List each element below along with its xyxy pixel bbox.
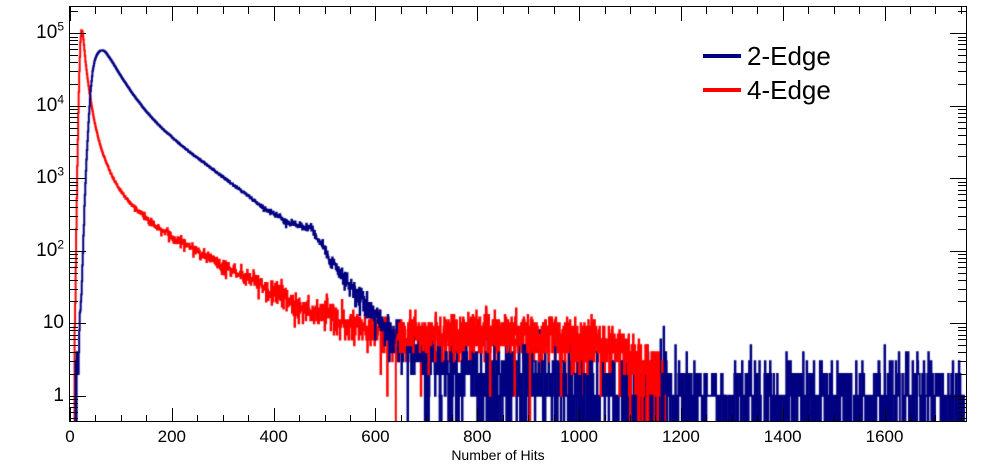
x-tick-minor	[452, 7, 453, 14]
x-tick-major	[274, 7, 275, 21]
y-tick-minor	[958, 185, 966, 186]
y-tick-minor	[70, 182, 78, 183]
y-tick-minor	[958, 200, 966, 201]
y-tick-minor	[958, 327, 966, 328]
x-tick-minor	[706, 7, 707, 14]
y-tick-minor	[958, 11, 966, 12]
x-tick-minor	[503, 7, 504, 14]
x-tick-minor	[605, 415, 606, 422]
y-tick-minor	[958, 216, 966, 217]
y-tick-minor	[70, 109, 78, 110]
y-tick-minor	[958, 113, 966, 114]
x-tick-minor	[757, 7, 758, 14]
x-tick-major	[477, 408, 478, 422]
x-tick-minor	[961, 415, 962, 422]
y-tick-minor	[70, 361, 78, 362]
y-tick-minor	[70, 412, 78, 413]
x-tick-major	[274, 408, 275, 422]
y-tick-minor	[958, 339, 966, 340]
y-tick-minor	[70, 11, 78, 12]
y-tick-minor	[958, 190, 966, 191]
x-tick-major	[70, 408, 71, 422]
y-axis-tick-label: 10	[6, 313, 64, 332]
x-tick-minor	[605, 7, 606, 14]
y-tick-minor	[70, 185, 78, 186]
x-tick-minor	[299, 7, 300, 14]
x-tick-minor	[732, 415, 733, 422]
y-tick-minor	[70, 339, 78, 340]
y-tick-minor	[958, 399, 966, 400]
y-axis-tick-label: 103	[6, 168, 64, 187]
y-tick-major	[950, 323, 966, 324]
x-tick-minor	[808, 415, 809, 422]
y-tick-minor	[70, 374, 78, 375]
y-tick-minor	[958, 71, 966, 72]
x-axis-tick-label: 1200	[641, 428, 721, 445]
y-tick-minor	[70, 128, 78, 129]
x-tick-minor	[223, 415, 224, 422]
y-tick-minor	[70, 113, 78, 114]
x-tick-major	[375, 408, 376, 422]
y-tick-minor	[70, 200, 78, 201]
x-tick-minor	[834, 415, 835, 422]
x-tick-minor	[834, 7, 835, 14]
x-tick-minor	[350, 7, 351, 14]
y-tick-minor	[958, 55, 966, 56]
x-tick-minor	[121, 415, 122, 422]
y-tick-minor	[70, 327, 78, 328]
y-tick-major	[950, 396, 966, 397]
x-tick-minor	[401, 415, 402, 422]
y-tick-minor	[70, 207, 78, 208]
x-tick-minor	[426, 415, 427, 422]
legend-entry-2-edge: 2-Edge	[700, 40, 910, 74]
y-tick-minor	[70, 216, 78, 217]
y-tick-minor	[958, 418, 966, 419]
y-tick-minor	[70, 301, 78, 302]
y-tick-minor	[958, 335, 966, 336]
y-tick-minor	[958, 128, 966, 129]
y-tick-minor	[958, 258, 966, 259]
y-tick-minor	[958, 182, 966, 183]
y-tick-major	[950, 33, 966, 34]
y-tick-minor	[70, 289, 78, 290]
y-tick-major	[70, 396, 86, 397]
y-tick-minor	[958, 330, 966, 331]
x-axis-tick-label: 1600	[845, 428, 925, 445]
y-axis-tick-label: 104	[6, 96, 64, 115]
y-axis-tick-label: 102	[6, 241, 64, 260]
x-axis-tick-label: 1400	[743, 428, 823, 445]
x-tick-minor	[554, 7, 555, 14]
y-tick-minor	[958, 194, 966, 195]
x-axis-title: Number of Hits	[0, 447, 996, 463]
x-tick-minor	[95, 415, 96, 422]
x-tick-major	[375, 7, 376, 21]
x-tick-major	[885, 408, 886, 422]
x-tick-major	[172, 408, 173, 422]
x-tick-major	[783, 7, 784, 21]
y-tick-minor	[958, 156, 966, 157]
y-tick-minor	[70, 229, 78, 230]
x-tick-minor	[197, 415, 198, 422]
y-tick-minor	[70, 37, 78, 38]
y-tick-minor	[70, 44, 78, 45]
y-tick-minor	[70, 280, 78, 281]
x-tick-major	[783, 408, 784, 422]
x-axis-tick-label: 600	[335, 428, 415, 445]
y-tick-minor	[958, 407, 966, 408]
x-tick-minor	[223, 7, 224, 14]
y-tick-major	[70, 106, 86, 107]
y-tick-major	[950, 178, 966, 179]
y-tick-minor	[958, 207, 966, 208]
y-tick-minor	[958, 135, 966, 136]
y-tick-minor	[70, 407, 78, 408]
x-tick-minor	[961, 7, 962, 14]
y-tick-minor	[70, 345, 78, 346]
y-tick-minor	[70, 262, 78, 263]
x-tick-major	[172, 7, 173, 21]
y-tick-minor	[70, 62, 78, 63]
legend-label-4-edge: 4-Edge	[747, 74, 831, 106]
x-axis-tick-label: 800	[437, 428, 517, 445]
y-tick-minor	[70, 330, 78, 331]
x-tick-minor	[910, 415, 911, 422]
legend-swatch-4-edge	[703, 88, 741, 92]
y-tick-minor	[70, 418, 78, 419]
y-tick-minor	[958, 144, 966, 145]
x-tick-minor	[859, 415, 860, 422]
y-tick-minor	[70, 40, 78, 41]
x-tick-major	[579, 408, 580, 422]
y-tick-minor	[958, 229, 966, 230]
legend-label-2-edge: 2-Edge	[747, 40, 831, 72]
x-tick-major	[681, 7, 682, 21]
x-tick-minor	[426, 7, 427, 14]
y-axis-tick-label: 1	[6, 386, 64, 405]
x-tick-minor	[401, 7, 402, 14]
y-tick-minor	[70, 352, 78, 353]
y-tick-minor	[70, 273, 78, 274]
y-tick-minor	[70, 156, 78, 157]
y-tick-minor	[70, 144, 78, 145]
x-tick-minor	[528, 415, 529, 422]
y-tick-minor	[70, 55, 78, 56]
x-tick-minor	[146, 415, 147, 422]
x-tick-minor	[757, 415, 758, 422]
y-tick-minor	[958, 262, 966, 263]
y-tick-minor	[70, 84, 78, 85]
y-tick-minor	[70, 403, 78, 404]
x-axis-tick-label: 1000	[539, 428, 619, 445]
y-tick-minor	[958, 289, 966, 290]
y-tick-minor	[70, 267, 78, 268]
x-tick-minor	[146, 7, 147, 14]
y-tick-minor	[958, 40, 966, 41]
y-tick-minor	[70, 71, 78, 72]
x-tick-minor	[554, 415, 555, 422]
legend-entry-4-edge: 4-Edge	[700, 74, 910, 108]
x-tick-minor	[452, 415, 453, 422]
y-tick-minor	[70, 49, 78, 50]
y-tick-minor	[958, 345, 966, 346]
y-tick-minor	[958, 44, 966, 45]
x-tick-minor	[706, 415, 707, 422]
x-tick-major	[885, 7, 886, 21]
y-tick-minor	[958, 374, 966, 375]
y-tick-major	[70, 251, 86, 252]
y-tick-minor	[70, 335, 78, 336]
y-tick-minor	[958, 361, 966, 362]
x-tick-minor	[655, 415, 656, 422]
x-tick-minor	[630, 7, 631, 14]
y-tick-minor	[70, 254, 78, 255]
y-tick-minor	[958, 117, 966, 118]
x-tick-minor	[935, 7, 936, 14]
y-tick-minor	[958, 62, 966, 63]
x-tick-minor	[299, 415, 300, 422]
x-tick-minor	[808, 7, 809, 14]
y-tick-minor	[958, 109, 966, 110]
y-tick-minor	[958, 273, 966, 274]
x-tick-major	[70, 7, 71, 21]
plot-root: 110102103104105 020040060080010001200140…	[0, 0, 996, 472]
x-tick-minor	[248, 415, 249, 422]
y-tick-minor	[958, 84, 966, 85]
x-tick-minor	[655, 7, 656, 14]
x-tick-minor	[95, 7, 96, 14]
y-tick-major	[950, 251, 966, 252]
y-tick-minor	[70, 122, 78, 123]
y-tick-minor	[958, 49, 966, 50]
y-tick-major	[950, 106, 966, 107]
y-tick-minor	[70, 258, 78, 259]
y-tick-minor	[70, 194, 78, 195]
x-tick-minor	[325, 7, 326, 14]
x-tick-major	[681, 408, 682, 422]
y-tick-minor	[958, 254, 966, 255]
y-tick-major	[70, 178, 86, 179]
y-tick-minor	[70, 190, 78, 191]
x-tick-minor	[528, 7, 529, 14]
y-tick-minor	[958, 122, 966, 123]
y-tick-major	[70, 33, 86, 34]
x-tick-minor	[248, 7, 249, 14]
y-tick-minor	[958, 280, 966, 281]
y-tick-minor	[70, 117, 78, 118]
y-tick-minor	[958, 412, 966, 413]
x-tick-minor	[121, 7, 122, 14]
y-tick-minor	[958, 352, 966, 353]
y-tick-minor	[958, 301, 966, 302]
y-tick-minor	[958, 37, 966, 38]
y-tick-minor	[70, 135, 78, 136]
x-tick-minor	[350, 415, 351, 422]
y-tick-minor	[958, 267, 966, 268]
x-axis-tick-label: 400	[234, 428, 314, 445]
y-tick-minor	[70, 399, 78, 400]
y-tick-major	[70, 323, 86, 324]
x-tick-minor	[197, 7, 198, 14]
x-tick-minor	[732, 7, 733, 14]
x-tick-minor	[935, 415, 936, 422]
x-tick-minor	[910, 7, 911, 14]
x-tick-minor	[630, 415, 631, 422]
x-axis-tick-label: 0	[30, 428, 110, 445]
x-tick-minor	[859, 7, 860, 14]
x-tick-minor	[325, 415, 326, 422]
x-tick-major	[579, 7, 580, 21]
legend: 2-Edge 4-Edge	[700, 40, 910, 108]
y-tick-minor	[958, 403, 966, 404]
x-axis-tick-label: 200	[132, 428, 212, 445]
x-tick-major	[477, 7, 478, 21]
legend-swatch-2-edge	[703, 54, 741, 58]
y-axis-tick-label: 105	[6, 23, 64, 42]
x-tick-minor	[503, 415, 504, 422]
